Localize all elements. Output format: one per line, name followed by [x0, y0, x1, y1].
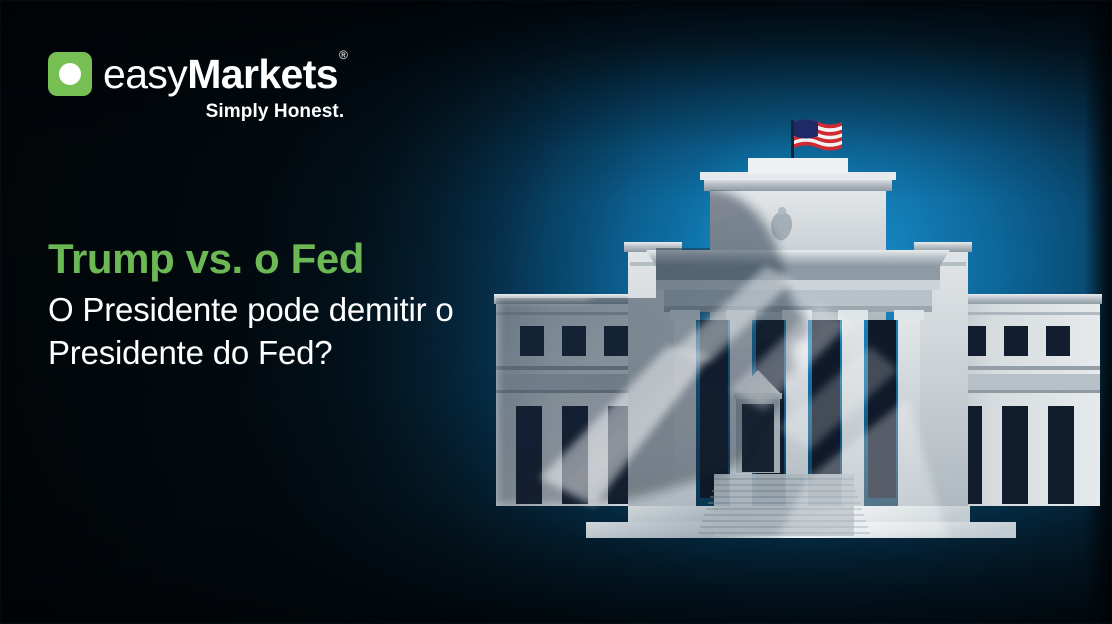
easymarkets-mark-icon — [48, 52, 92, 96]
logo-tagline: Simply Honest. — [206, 101, 345, 123]
easymarkets-logo[interactable]: easyMarkets® Simply Honest. — [48, 52, 346, 123]
logo-dot-icon — [59, 63, 81, 85]
logo-row: easyMarkets® — [48, 52, 346, 96]
logo-word-light: easy — [103, 51, 187, 97]
federal-reserve-building-illustration — [478, 98, 1112, 538]
banner: easyMarkets® Simply Honest. Trump vs. o … — [0, 0, 1112, 624]
registered-trademark-icon: ® — [339, 48, 347, 62]
logo-word-bold: Markets — [187, 51, 338, 97]
logo-wordmark: easyMarkets® — [103, 54, 346, 95]
subheadline: O Presidente pode demitir o Presidente d… — [48, 289, 478, 375]
headline: Trump vs. o Fed — [48, 238, 478, 281]
headline-block: Trump vs. o Fed O Presidente pode demiti… — [48, 238, 478, 375]
